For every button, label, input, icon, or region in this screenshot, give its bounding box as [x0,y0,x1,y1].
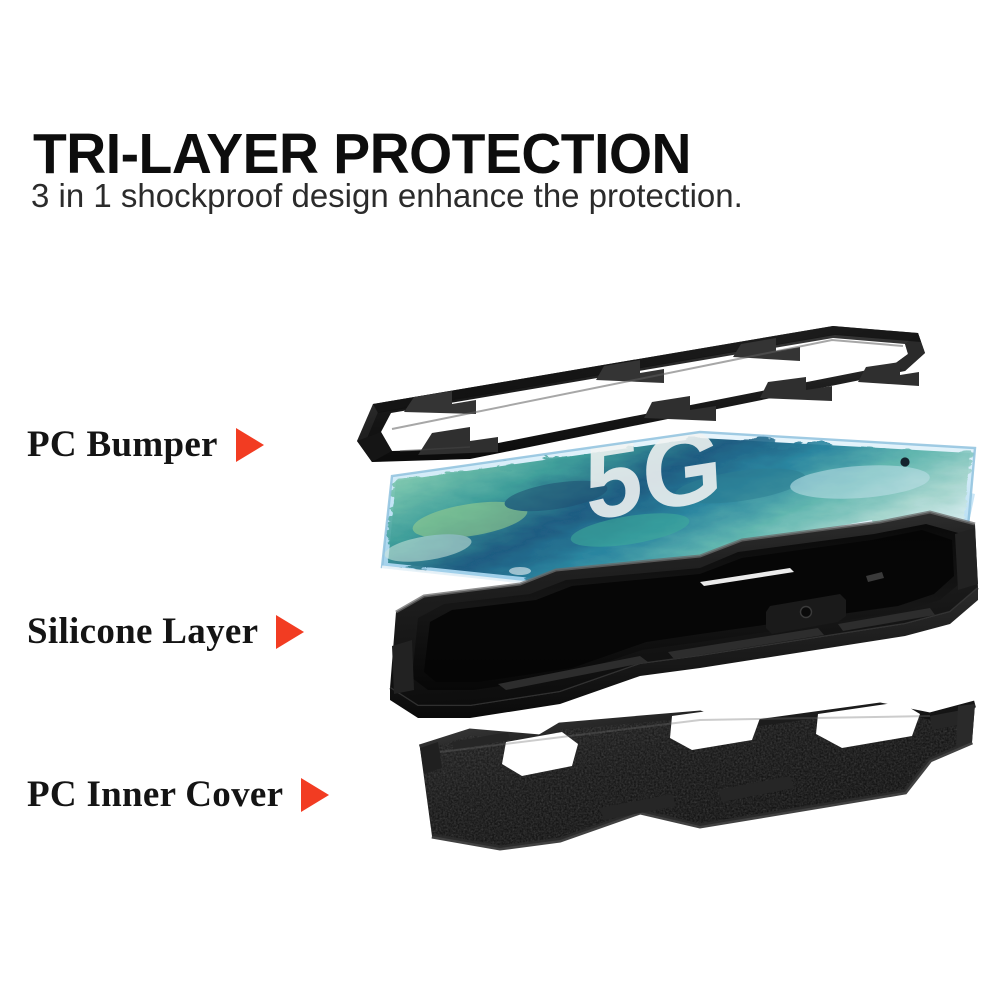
layer-label-silicone-layer: Silicone Layer [27,613,304,650]
triangle-right-icon [236,428,264,462]
layer-label-text: Silicone Layer [27,613,258,650]
infographic-canvas: TRI-LAYER PROTECTION 3 in 1 shockproof d… [0,0,1000,1000]
part-pc-bumper [357,326,925,462]
triangle-right-icon [276,615,304,649]
part-pc-inner-cover [410,700,990,860]
page-subtitle: 3 in 1 shockproof design enhance the pro… [31,180,743,214]
layer-label-text: PC Inner Cover [27,776,283,813]
triangle-right-icon [301,778,329,812]
part-silicone-layer [390,512,978,718]
page-title: TRI-LAYER PROTECTION [33,126,691,183]
phone-5g-badge: 5G [582,406,725,544]
part-phone: 5G [382,406,975,596]
layer-label-pc-bumper: PC Bumper [27,426,264,463]
layer-label-text: PC Bumper [27,426,218,463]
layer-label-pc-inner-cover: PC Inner Cover [27,776,329,813]
